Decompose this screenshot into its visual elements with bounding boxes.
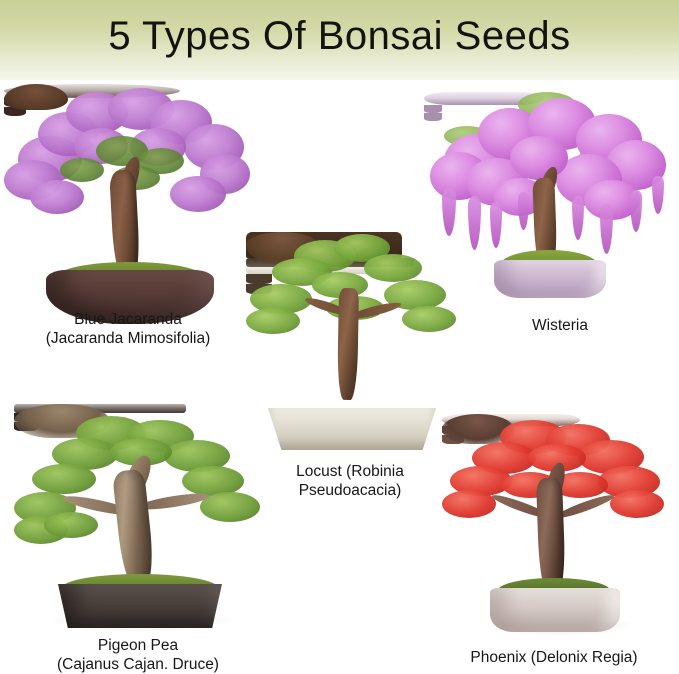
caption-phoenix: Phoenix (Delonix Regia)	[428, 648, 679, 667]
foliage-cluster	[364, 254, 422, 282]
foliage-cluster	[60, 158, 104, 182]
bonsai-image-locust	[246, 232, 458, 446]
caption-pigeon-pea: Pigeon Pea (Cajanus Cajan. Druce)	[0, 636, 276, 674]
bonsai-image-wisteria	[424, 92, 676, 300]
blossom-raceme	[572, 196, 584, 240]
blossom-raceme	[630, 190, 642, 232]
foliage-cluster	[442, 490, 496, 518]
caption-locust: Locust (Robinia Pseudoacacia)	[250, 462, 450, 500]
bonsai-pot	[490, 588, 620, 632]
foliage-cluster	[44, 512, 98, 538]
foliage-cluster	[402, 306, 456, 332]
foliage-cluster	[246, 308, 300, 334]
page-title: 5 Types Of Bonsai Seeds	[108, 16, 570, 64]
bonsai-pot	[268, 408, 436, 450]
blossom-raceme	[518, 192, 529, 230]
title-banner: 5 Types Of Bonsai Seeds	[0, 0, 679, 80]
blossom-raceme	[490, 202, 502, 248]
caption-wisteria: Wisteria	[432, 316, 679, 335]
bonsai-image-blue-jacaranda	[4, 84, 252, 306]
tree-trunk	[112, 469, 156, 588]
tree-trunk	[337, 288, 359, 400]
bonsai-pot	[494, 260, 606, 298]
bonsai-pot	[58, 584, 222, 628]
blossom-raceme	[600, 204, 613, 254]
blossom-raceme	[442, 188, 456, 236]
bonsai-image-pigeon-pea	[14, 404, 264, 632]
foliage-cluster	[610, 490, 664, 518]
blossom-raceme	[468, 196, 481, 250]
blossom-cluster	[170, 176, 226, 212]
foliage-cluster	[32, 464, 96, 494]
tree-roots	[4, 84, 68, 110]
tree-trunk	[536, 478, 566, 595]
blossom-cluster	[510, 136, 568, 180]
bonsai-image-phoenix	[442, 414, 664, 636]
caption-blue-jacaranda: Blue Jacaranda (Jacaranda Mimosifolia)	[0, 310, 256, 348]
blossom-raceme	[652, 176, 664, 214]
blossom-cluster	[30, 180, 84, 214]
